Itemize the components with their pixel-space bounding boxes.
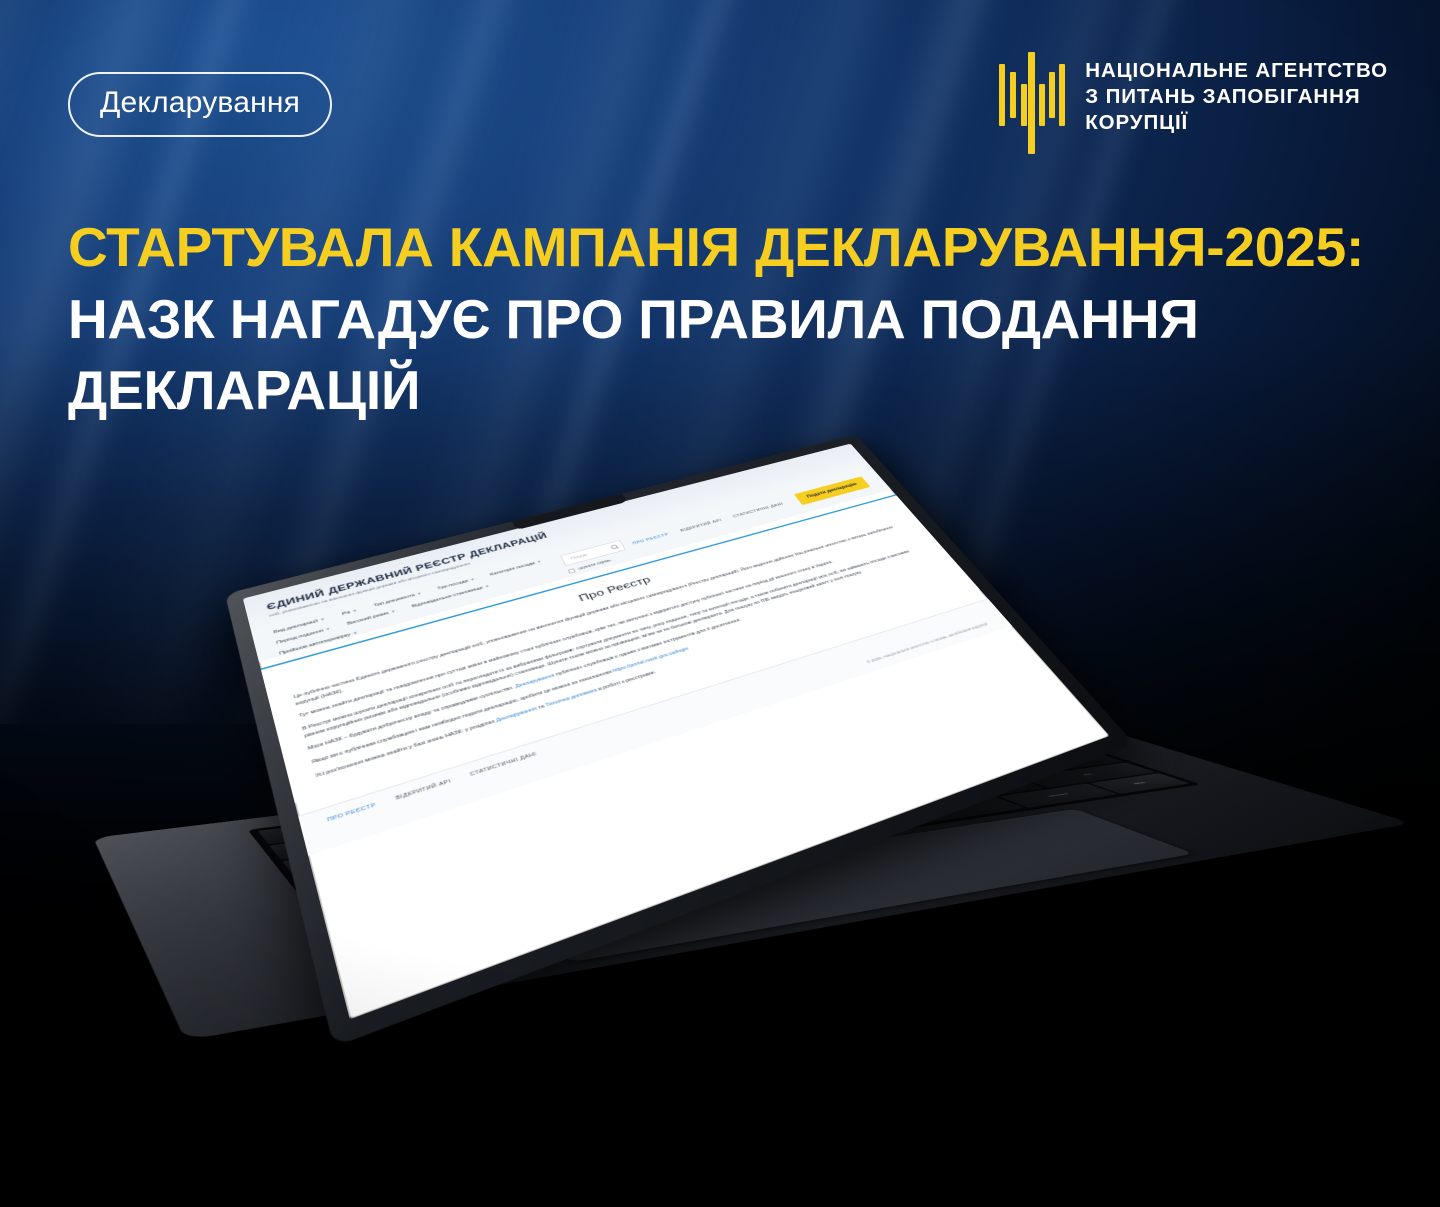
poster-canvas: Декларування НАЦІОНАЛЬНЕ АГЕНТСТВО З ПИТ… — [0, 0, 1440, 1207]
filter-label: Тип документа — [373, 593, 416, 608]
nav-link-3[interactable]: СТАТИСТИЧНІ ДАНІ — [732, 502, 784, 519]
search-column: Пошук шукати скрізь — [560, 539, 630, 574]
chevron-down-icon: ▾ — [471, 578, 475, 582]
chevron-down-icon: ▾ — [391, 610, 395, 615]
chevron-down-icon: ▾ — [537, 560, 541, 564]
search-icon — [610, 545, 617, 550]
filter-label: Відповідальне становище — [411, 586, 484, 609]
chevron-down-icon: ▾ — [485, 585, 489, 590]
search-placeholder: Пошук — [570, 553, 588, 561]
nav-link-2[interactable]: ВІДКРИТИЙ API — [680, 519, 723, 533]
nav-link-1[interactable]: ПРО РЕЄСТР — [632, 533, 670, 546]
filter-label: Тип посади — [437, 579, 469, 591]
chevron-down-icon: ▾ — [321, 617, 325, 622]
laptop-screen-wrapper: ЄДИНИЙ ДЕРЖАВНИЙ РЕЄСТР ДЕКЛАРАЦІЙ осіб,… — [452, 392, 1092, 862]
checkbox-box-icon — [568, 568, 576, 573]
laptop-mockup: esc~1234567890-=deltabQWERTYUIOP[]\caps … — [0, 0, 1440, 1207]
chevron-down-icon: ▾ — [353, 631, 357, 636]
filter-dropdown-2[interactable]: Рік▾ — [341, 609, 357, 617]
chevron-down-icon: ▾ — [326, 627, 330, 632]
filter-dropdown-8[interactable]: Відповідальне становище▾ — [411, 585, 489, 610]
